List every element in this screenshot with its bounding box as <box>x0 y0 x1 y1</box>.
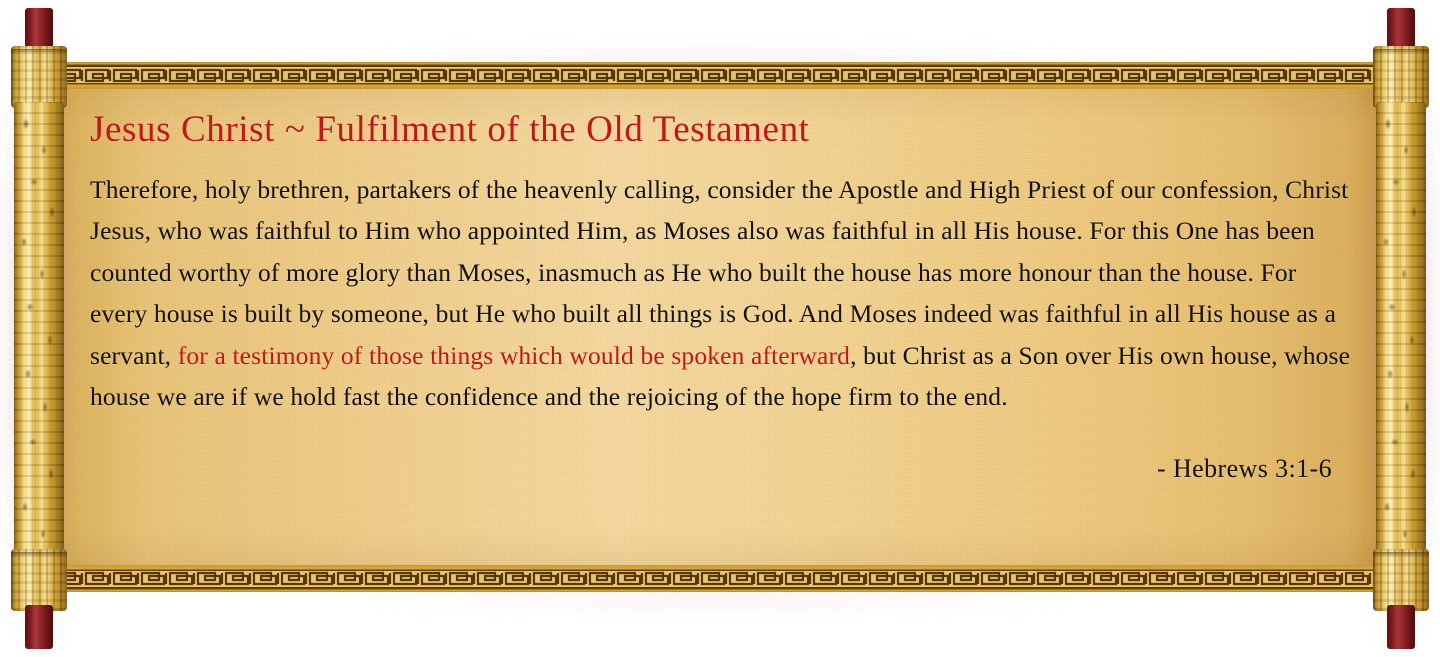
meander-pattern-top <box>56 67 1384 83</box>
meander-pattern-bottom <box>56 571 1384 587</box>
maroon-rod-finial-bottom <box>1387 605 1415 649</box>
scripture-scroll-figure: Jesus Christ ~ Fulfilment of the Old Tes… <box>0 0 1440 657</box>
gold-rod-collar-top <box>11 46 67 108</box>
gold-rod-shaft <box>14 102 64 554</box>
gold-rod-collar-bottom <box>1373 549 1429 611</box>
scroll-text-content: Jesus Christ ~ Fulfilment of the Old Tes… <box>90 110 1358 484</box>
scripture-passage: Therefore, holy brethren, partakers of t… <box>90 169 1358 418</box>
gold-rod-collar-top <box>1373 46 1429 108</box>
maroon-rod-finial-bottom <box>25 605 53 649</box>
greek-key-meander-border-top <box>56 62 1384 89</box>
page-title: Jesus Christ ~ Fulfilment of the Old Tes… <box>90 110 1358 151</box>
gold-rod-collar-bottom <box>11 549 67 611</box>
gold-scroll-rod-left <box>8 6 70 651</box>
scripture-reference: - Hebrews 3:1-6 <box>90 454 1358 484</box>
gold-rod-shaft <box>1376 102 1426 554</box>
gold-scroll-rod-right <box>1370 6 1432 651</box>
greek-key-meander-border-bottom <box>56 565 1384 592</box>
passage-segment-highlighted: for a testimony of those things which wo… <box>178 341 850 370</box>
